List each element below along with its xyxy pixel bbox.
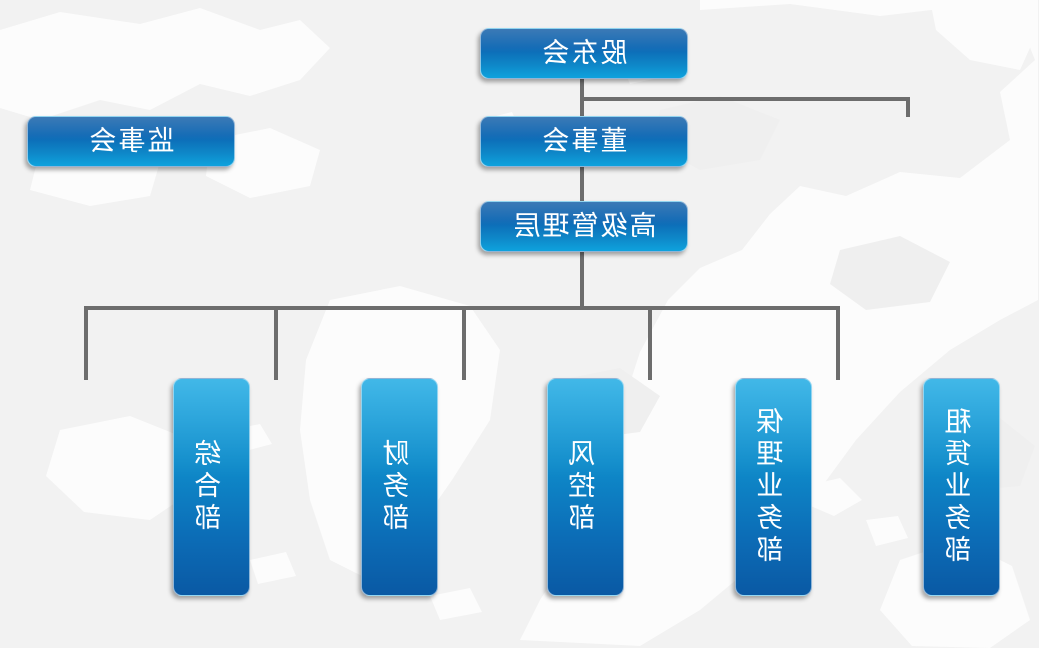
node-department-factoring[interactable]: 保理业务部	[735, 378, 812, 596]
connector-to-directors	[580, 97, 584, 117]
node-label-management: 高级管理层	[512, 213, 657, 240]
node-department-risk-control[interactable]: 风控部	[547, 378, 624, 596]
connector-to-dept-2	[648, 306, 652, 380]
connector-management-stem	[580, 252, 584, 310]
node-label-department-leasing: 租赁业务部	[946, 407, 976, 567]
node-label-department-factoring: 保理业务部	[758, 407, 788, 567]
node-label-supervisors: 监事会	[88, 128, 175, 155]
connector-level2-bar	[580, 97, 910, 101]
mirrored-diagram-layer: 股东会 监事会 董事会 高级管理层 综合部 财务部 风控部 保理业务部 租赁业务…	[0, 0, 1039, 648]
connector-to-supervisors	[906, 97, 910, 117]
node-label-department-general: 综合部	[196, 439, 226, 535]
connector-to-dept-3	[462, 306, 466, 380]
node-board-of-supervisors[interactable]: 监事会	[27, 116, 235, 167]
node-shareholders-meeting[interactable]: 股东会	[480, 28, 688, 79]
connector-to-dept-4	[274, 306, 278, 380]
org-chart-canvas: 股东会 监事会 董事会 高级管理层 综合部 财务部 风控部 保理业务部 租赁业务…	[0, 0, 1039, 648]
node-department-leasing[interactable]: 租赁业务部	[923, 378, 1000, 596]
node-department-general[interactable]: 综合部	[173, 378, 250, 596]
node-label-directors: 董事会	[541, 128, 628, 155]
node-senior-management[interactable]: 高级管理层	[480, 201, 688, 252]
node-label-department-finance: 财务部	[384, 439, 414, 535]
node-board-of-directors[interactable]: 董事会	[480, 116, 688, 167]
node-department-finance[interactable]: 财务部	[361, 378, 438, 596]
node-label-shareholders: 股东会	[541, 40, 628, 67]
connector-directors-to-management	[580, 167, 584, 201]
connector-to-dept-5	[84, 306, 88, 380]
connector-to-dept-1	[836, 306, 840, 380]
node-label-department-risk: 风控部	[570, 439, 600, 535]
